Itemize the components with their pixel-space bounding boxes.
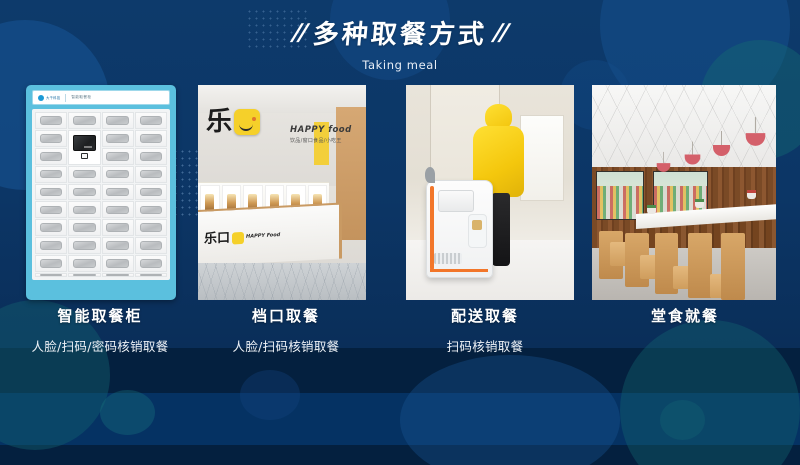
locker-door: [40, 116, 62, 125]
panel-row: 大千科技 智能取餐柜: [0, 85, 800, 300]
locker-cell[interactable]: [35, 201, 67, 218]
locker-cell[interactable]: [135, 201, 167, 218]
locker-cell[interactable]: [135, 130, 167, 147]
locker-cell[interactable]: [68, 201, 100, 218]
locker-cell[interactable]: [68, 184, 100, 201]
locker-cell[interactable]: [135, 166, 167, 183]
light-panel: [520, 115, 564, 201]
locker-door: [73, 259, 95, 268]
locker-cell[interactable]: [68, 237, 100, 254]
caption-subtitle: 人脸/扫码核销取餐: [196, 336, 376, 355]
caption-row: 智能取餐柜 人脸/扫码/密码核销取餐 档口取餐 人脸/扫码核销取餐 配送取餐 扫…: [0, 305, 800, 370]
smile-logo-icon: [234, 109, 260, 135]
locker-door: [73, 170, 95, 179]
locker-cell[interactable]: [35, 184, 67, 201]
decorative-blob: [240, 370, 300, 420]
robot-compartment-hatch: [438, 190, 475, 211]
caption-title: 配送取餐: [390, 305, 580, 326]
locker-door: [140, 206, 162, 215]
locker-cell[interactable]: [135, 112, 167, 129]
panel-smart-locker: 大千科技 智能取餐柜: [26, 85, 176, 300]
store-tagline-cn: 饮品/窗口食品/小吃王: [290, 137, 342, 144]
title-row: // 多种取餐方式 //: [0, 14, 800, 51]
locker-cell[interactable]: [68, 273, 100, 277]
locker-cell[interactable]: [68, 219, 100, 236]
locker-touchscreen-module[interactable]: [68, 130, 100, 165]
caption-title: 智能取餐柜: [0, 305, 200, 326]
locker-subtitle-text: 智能取餐柜: [71, 95, 91, 100]
locker-door: [40, 170, 62, 179]
divider: [65, 94, 66, 102]
locker-cell[interactable]: [35, 112, 67, 129]
counter-logo-character: 乐口: [204, 232, 230, 246]
decorative-blob: [660, 400, 705, 440]
dining-chair: [721, 233, 745, 300]
locker-cell[interactable]: [102, 130, 134, 147]
locker-door: [40, 134, 62, 143]
locker-cell[interactable]: [102, 112, 134, 129]
locker-door: [140, 188, 162, 197]
locker-door: [73, 188, 95, 197]
locker-cell[interactable]: [68, 166, 100, 183]
potted-plant: [695, 199, 704, 208]
locker-screen[interactable]: [73, 135, 97, 150]
potted-plant: [747, 190, 756, 199]
locker-door: [140, 241, 162, 250]
locker-cell[interactable]: [35, 148, 67, 165]
locker-cell[interactable]: [135, 184, 167, 201]
locker-cell[interactable]: [102, 237, 134, 254]
locker-door: [106, 241, 128, 250]
caption-subtitle: 人脸/扫码/密码核销取餐: [0, 336, 200, 355]
caption-dine-in: 堂食就餐: [590, 305, 780, 336]
locker-cell[interactable]: [135, 148, 167, 165]
tiled-floor: [198, 263, 366, 300]
caption-subtitle: 扫码核销取餐: [390, 336, 580, 355]
caption-smart-locker: 智能取餐柜 人脸/扫码/密码核销取餐: [0, 305, 200, 355]
locker-cell[interactable]: [35, 219, 67, 236]
locker-door: [40, 223, 62, 232]
robot-accent-stripe: [430, 269, 489, 272]
courier-legs: [492, 193, 510, 266]
qr-scanner-icon: [81, 153, 88, 160]
locker-door: [73, 116, 95, 125]
locker-cell[interactable]: [35, 130, 67, 147]
page-header: // 多种取餐方式 // Taking meal: [0, 14, 800, 72]
page-title: 多种取餐方式: [311, 14, 488, 51]
logo-character: 乐: [206, 109, 232, 135]
locker-cell-grid: [32, 109, 170, 280]
locker-cell[interactable]: [102, 201, 134, 218]
locker-cell[interactable]: [102, 219, 134, 236]
locker-door: [106, 259, 128, 268]
locker-door: [140, 170, 162, 179]
locker-door: [106, 274, 128, 276]
logo-mark-icon: [38, 95, 44, 101]
locker-door: [40, 152, 62, 161]
locker-door: [106, 223, 128, 232]
locker-door: [140, 152, 162, 161]
locker-cell[interactable]: [35, 255, 67, 272]
locker-brand-text: 大千科技: [46, 95, 60, 100]
locker-cell[interactable]: [102, 255, 134, 272]
locker-cell[interactable]: [35, 237, 67, 254]
panel-dine-in: [592, 85, 776, 300]
counter-pickup-photo: 乐 HAPPY food 饮品/窗口食品/小吃王 乐口 HAPPY Food: [198, 85, 366, 300]
dining-chair: [688, 233, 712, 298]
delivery-robot: [426, 180, 493, 279]
locker-door: [106, 206, 128, 215]
locker-door: [73, 223, 95, 232]
locker-cell[interactable]: [102, 166, 134, 183]
smart-locker-cabinet: 大千科技 智能取餐柜: [26, 85, 176, 300]
locker-door: [73, 274, 95, 276]
locker-door: [106, 170, 128, 179]
panel-delivery-pickup: [406, 85, 574, 300]
counter-smile-icon: [232, 232, 244, 245]
locker-door: [73, 241, 95, 250]
slash-right-decoration: //: [493, 20, 509, 46]
locker-cell[interactable]: [135, 219, 167, 236]
locker-door: [140, 259, 162, 268]
potted-plant: [647, 205, 656, 214]
locker-door: [140, 274, 162, 276]
locker-cell[interactable]: [135, 237, 167, 254]
robot-decal: [468, 214, 488, 249]
panel-counter-pickup: 乐 HAPPY food 饮品/窗口食品/小吃王 乐口 HAPPY Food: [198, 85, 366, 300]
robot-sensor-icon: [425, 167, 435, 183]
caption-title: 堂食就餐: [590, 305, 780, 326]
slash-left-decoration: //: [292, 20, 308, 46]
caption-title: 档口取餐: [196, 305, 376, 326]
locker-cell[interactable]: [135, 255, 167, 272]
locker-door: [106, 188, 128, 197]
page-subtitle: Taking meal: [0, 58, 800, 72]
locker-door: [40, 241, 62, 250]
locker-cell[interactable]: [68, 255, 100, 272]
locker-door: [106, 152, 128, 161]
caption-counter-pickup: 档口取餐 人脸/扫码核销取餐: [196, 305, 376, 355]
counter-logo-text: HAPPY Food: [246, 233, 280, 240]
locker-door: [40, 206, 62, 215]
caption-delivery-pickup: 配送取餐 扫码核销取餐: [390, 305, 580, 355]
locker-door: [140, 134, 162, 143]
locker-cell[interactable]: [68, 112, 100, 129]
store-sign-logo: 乐: [206, 109, 260, 135]
store-tagline: HAPPY food: [290, 125, 352, 135]
locker-door: [73, 206, 95, 215]
locker-brand-logo: 大千科技: [38, 95, 60, 101]
locker-cell[interactable]: [35, 273, 67, 277]
locker-door: [40, 259, 62, 268]
locker-door: [40, 188, 62, 197]
locker-cell[interactable]: [102, 148, 134, 165]
locker-cell[interactable]: [102, 273, 134, 277]
locker-door: [140, 223, 162, 232]
locker-header-bar: 大千科技 智能取餐柜: [32, 90, 170, 105]
locker-cell[interactable]: [35, 166, 67, 183]
locker-cell[interactable]: [135, 273, 167, 277]
delivery-robot-photo: [406, 85, 574, 300]
locker-door: [106, 116, 128, 125]
dining-hall-photo: [592, 85, 776, 300]
locker-door: [106, 134, 128, 143]
locker-door: [140, 116, 162, 125]
robot-vent: [434, 253, 463, 264]
locker-door: [40, 274, 62, 276]
locker-cell[interactable]: [102, 184, 134, 201]
